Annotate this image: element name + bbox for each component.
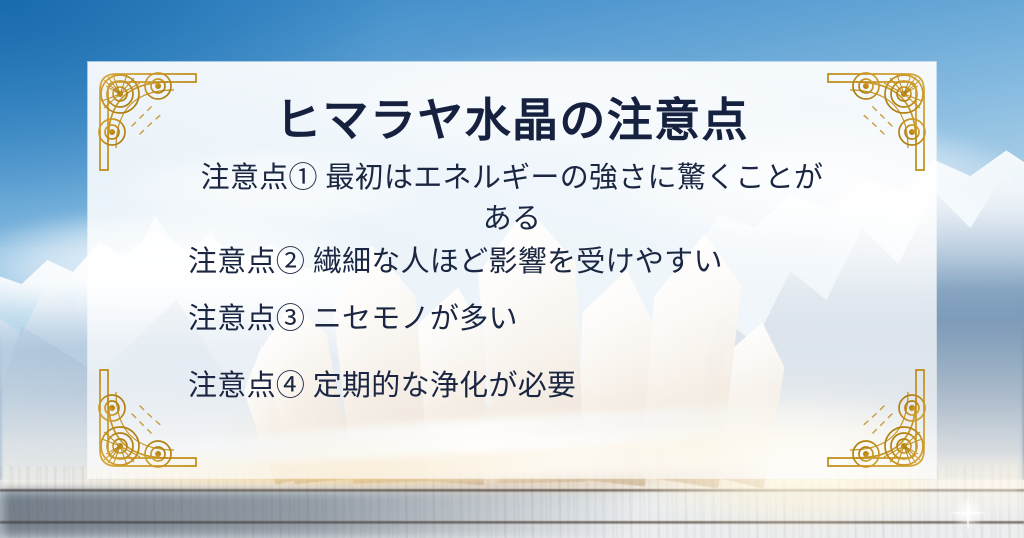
caution-point-4: 注意点④ 定期的な浄化が必要	[184, 366, 576, 407]
table-shadow	[0, 490, 635, 538]
caution-point-1: 注意点① 最初はエネルギーの強さに驚くことがある	[199, 158, 825, 240]
page-title: ヒマラヤ水晶の注意点	[275, 96, 749, 146]
slide-canvas: ヒマラヤ水晶の注意点 注意点① 最初はエネルギーの強さに驚くことがある 注意点②…	[0, 0, 1024, 538]
card-content: ヒマラヤ水晶の注意点 注意点① 最初はエネルギーの強さに驚くことがある 注意点②…	[88, 62, 936, 478]
caution-point-2: 注意点② 繊細な人ほど影響を受けやすい	[184, 242, 723, 283]
caution-point-list: 注意点① 最初はエネルギーの強さに驚くことがある 注意点② 繊細な人ほど影響を受…	[184, 158, 840, 408]
content-card: ヒマラヤ水晶の注意点 注意点① 最初はエネルギーの強さに驚くことがある 注意点②…	[88, 62, 936, 478]
caution-point-3: 注意点③ ニセモノが多い	[184, 299, 518, 340]
